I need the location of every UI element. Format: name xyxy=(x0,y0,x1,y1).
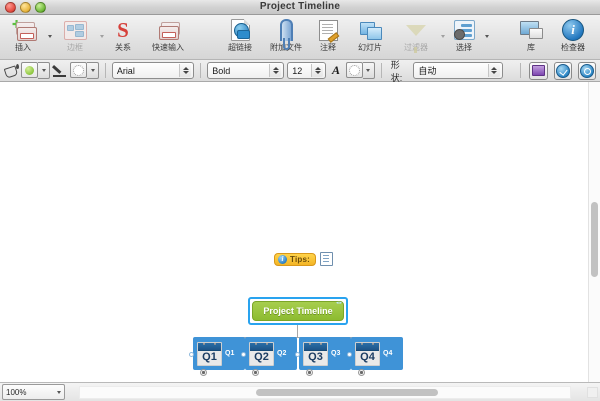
fill-color-caret-icon[interactable] xyxy=(38,62,50,79)
toolbar-button-relation[interactable]: S 关系 xyxy=(104,17,142,52)
root-node-fill: Project Timeline xyxy=(252,301,344,321)
format-divider-1 xyxy=(105,63,106,78)
inspector-icon: i xyxy=(562,18,584,42)
child-thumbnail-label-q4: Q4 xyxy=(356,351,379,365)
main-toolbar: ✚ 插入 边框 S 关系 xyxy=(0,15,600,60)
horizontal-scrollbar[interactable] xyxy=(79,386,571,399)
toolbar-left-group: ✚ 插入 边框 S 关系 xyxy=(0,17,194,52)
child-node-label-q1: Q1 xyxy=(225,350,234,357)
stroke-color-swatch[interactable] xyxy=(70,62,87,78)
font-family-stepper-icon[interactable] xyxy=(179,64,191,77)
font-size-select[interactable]: 12 xyxy=(287,62,326,79)
zoom-caret-icon[interactable] xyxy=(57,391,61,394)
toolbar-center-group: 超链接 附加文件 注释 幻灯片 xyxy=(217,17,489,52)
child-thumbnail-q1: Q1 xyxy=(197,342,222,366)
format-divider-2 xyxy=(200,63,201,78)
outline-view-icon xyxy=(532,65,545,76)
toolbar-label-note: 注释 xyxy=(320,43,336,52)
child-thumbnail-q4: Q4 xyxy=(355,342,380,366)
horizontal-scrollbar-thumb[interactable] xyxy=(256,389,437,396)
insert-icon: ✚ xyxy=(12,18,34,42)
shape-value: 自动 xyxy=(418,64,487,77)
filter-icon xyxy=(406,18,426,42)
stroke-color-caret-icon[interactable] xyxy=(87,62,99,79)
outline-view-button[interactable] xyxy=(529,62,547,80)
mindmap-child-node-q1[interactable]: Q1 Q1 xyxy=(193,337,245,370)
font-family-select[interactable]: Arial xyxy=(112,62,195,79)
child-thumbnail-label-q2: Q2 xyxy=(250,351,273,365)
resize-corner[interactable] xyxy=(587,387,598,398)
toolbar-label-hyperlink: 超链接 xyxy=(228,43,252,52)
font-style-select[interactable]: Bold xyxy=(207,62,284,79)
shape-label: 形状: xyxy=(391,58,408,84)
root-node-label: Project Timeline xyxy=(263,306,332,316)
toolbar-button-insert[interactable]: ✚ 插入 xyxy=(0,17,46,52)
child-node-label-q2: Q2 xyxy=(277,350,286,357)
toolbar-button-filter[interactable]: 过滤器 xyxy=(393,17,439,52)
text-color-control[interactable] xyxy=(346,62,375,79)
map-view-button[interactable] xyxy=(554,62,572,80)
vertical-scrollbar-thumb[interactable] xyxy=(591,202,598,277)
child-bottom-handle-q1[interactable] xyxy=(200,369,207,376)
presentation-view-icon xyxy=(580,64,594,78)
stroke-color-control[interactable] xyxy=(70,62,99,79)
window-title: Project Timeline xyxy=(0,0,600,14)
mindmap-child-node-q4[interactable]: Q4 Q4 xyxy=(351,337,403,370)
presentation-view-button[interactable] xyxy=(578,62,596,80)
child-bottom-handle-q2[interactable] xyxy=(252,369,259,376)
format-bar: Arial Bold 12 A 形状: 自动 xyxy=(0,60,600,82)
child-thumbnail-label-q3: Q3 xyxy=(304,351,327,365)
mindmap-child-node-q3[interactable]: Q3 Q3 xyxy=(299,337,351,370)
status-bar: 100% xyxy=(0,382,600,401)
toolbar-button-select[interactable]: 选择 xyxy=(445,17,483,52)
toolbar-button-library[interactable]: 库 xyxy=(512,17,550,52)
mindmap-canvas[interactable]: i Tips: Project Timeline ◂▸ xyxy=(0,82,589,382)
shape-stepper-icon[interactable] xyxy=(488,64,500,77)
toolbar-label-insert: 插入 xyxy=(15,43,31,52)
zoom-level-value: 100% xyxy=(6,388,55,397)
text-color-caret-icon[interactable] xyxy=(363,62,375,79)
library-icon xyxy=(520,18,543,42)
child-node-label-q4: Q4 xyxy=(383,350,392,357)
font-size-value: 12 xyxy=(292,66,311,76)
canvas-area[interactable]: i Tips: Project Timeline ◂▸ xyxy=(0,82,600,382)
toolbar-label-relation: 关系 xyxy=(115,43,131,52)
slideshow-icon xyxy=(360,18,381,42)
text-color-swatch[interactable] xyxy=(346,62,363,78)
mindmap-child-node-q2[interactable]: Q2 Q2 xyxy=(245,337,297,370)
font-style-stepper-icon[interactable] xyxy=(269,64,281,77)
child-left-handle-q3[interactable] xyxy=(295,352,300,357)
toolbar-button-border[interactable]: 边框 xyxy=(52,17,98,52)
select-icon xyxy=(454,18,475,42)
select-menu-caret-icon[interactable] xyxy=(485,35,489,38)
toolbar-label-slideshow: 幻灯片 xyxy=(358,43,382,52)
font-size-stepper-icon[interactable] xyxy=(311,64,323,77)
toolbar-label-inspector: 检查器 xyxy=(561,43,585,52)
zoom-level-select[interactable]: 100% xyxy=(2,384,65,400)
connector-root-stem xyxy=(297,325,298,337)
mindmap-root-node[interactable]: Project Timeline ◂▸ xyxy=(248,297,348,325)
tips-label: Tips: xyxy=(290,255,310,264)
format-divider-4 xyxy=(520,63,521,78)
toolbar-button-hyperlink[interactable]: 超链接 xyxy=(217,17,263,52)
paint-bucket-icon[interactable] xyxy=(4,63,18,79)
toolbar-button-attach-file[interactable]: 附加文件 xyxy=(263,17,309,52)
title-bar: Project Timeline xyxy=(0,0,600,15)
info-icon: i xyxy=(278,255,287,264)
toolbar-button-inspector[interactable]: i 检查器 xyxy=(550,17,596,52)
toolbar-button-slideshow[interactable]: 幻灯片 xyxy=(347,17,393,52)
toolbar-right-group: 库 i 检查器 xyxy=(512,17,600,52)
tips-note-icon[interactable] xyxy=(320,252,333,266)
child-bottom-handle-q4[interactable] xyxy=(358,369,365,376)
text-style-icon[interactable]: A xyxy=(329,63,343,79)
toolbar-button-note[interactable]: 注释 xyxy=(309,17,347,52)
child-left-handle-q1[interactable] xyxy=(189,352,194,357)
app-window: Project Timeline ✚ 插入 xyxy=(0,0,600,401)
root-resize-grip-icon[interactable]: ◂▸ xyxy=(336,300,343,306)
child-bottom-handle-q3[interactable] xyxy=(306,369,313,376)
border-icon xyxy=(64,18,87,42)
font-style-value: Bold xyxy=(212,66,269,76)
quick-entry-icon xyxy=(157,18,179,42)
map-view-icon xyxy=(556,64,570,78)
toolbar-label-quick-entry: 快速输入 xyxy=(152,43,184,52)
toolbar-label-border: 边框 xyxy=(67,43,83,52)
child-thumbnail-q2: Q2 xyxy=(249,342,274,366)
note-icon xyxy=(319,18,338,42)
font-family-value: Arial xyxy=(117,66,180,76)
tips-group: i Tips: xyxy=(274,252,333,266)
relation-icon: S xyxy=(117,18,129,42)
vertical-scrollbar[interactable] xyxy=(588,82,600,382)
tips-badge[interactable]: i Tips: xyxy=(274,253,316,266)
toolbar-label-select: 选择 xyxy=(456,43,472,52)
toolbar-label-library: 库 xyxy=(527,43,535,52)
fill-color-control[interactable] xyxy=(21,62,50,79)
fill-color-swatch[interactable] xyxy=(21,62,38,78)
format-divider-3 xyxy=(381,63,382,78)
pen-icon[interactable] xyxy=(53,63,67,79)
toolbar-button-quick-entry[interactable]: 快速输入 xyxy=(142,17,194,52)
child-left-handle-q2[interactable] xyxy=(241,352,246,357)
child-thumbnail-label-q1: Q1 xyxy=(198,351,221,365)
hyperlink-icon xyxy=(231,18,250,42)
shape-select[interactable]: 自动 xyxy=(413,62,502,79)
child-node-label-q3: Q3 xyxy=(331,350,340,357)
child-left-handle-q4[interactable] xyxy=(347,352,352,357)
attach-file-icon xyxy=(280,18,293,42)
child-thumbnail-q3: Q3 xyxy=(303,342,328,366)
